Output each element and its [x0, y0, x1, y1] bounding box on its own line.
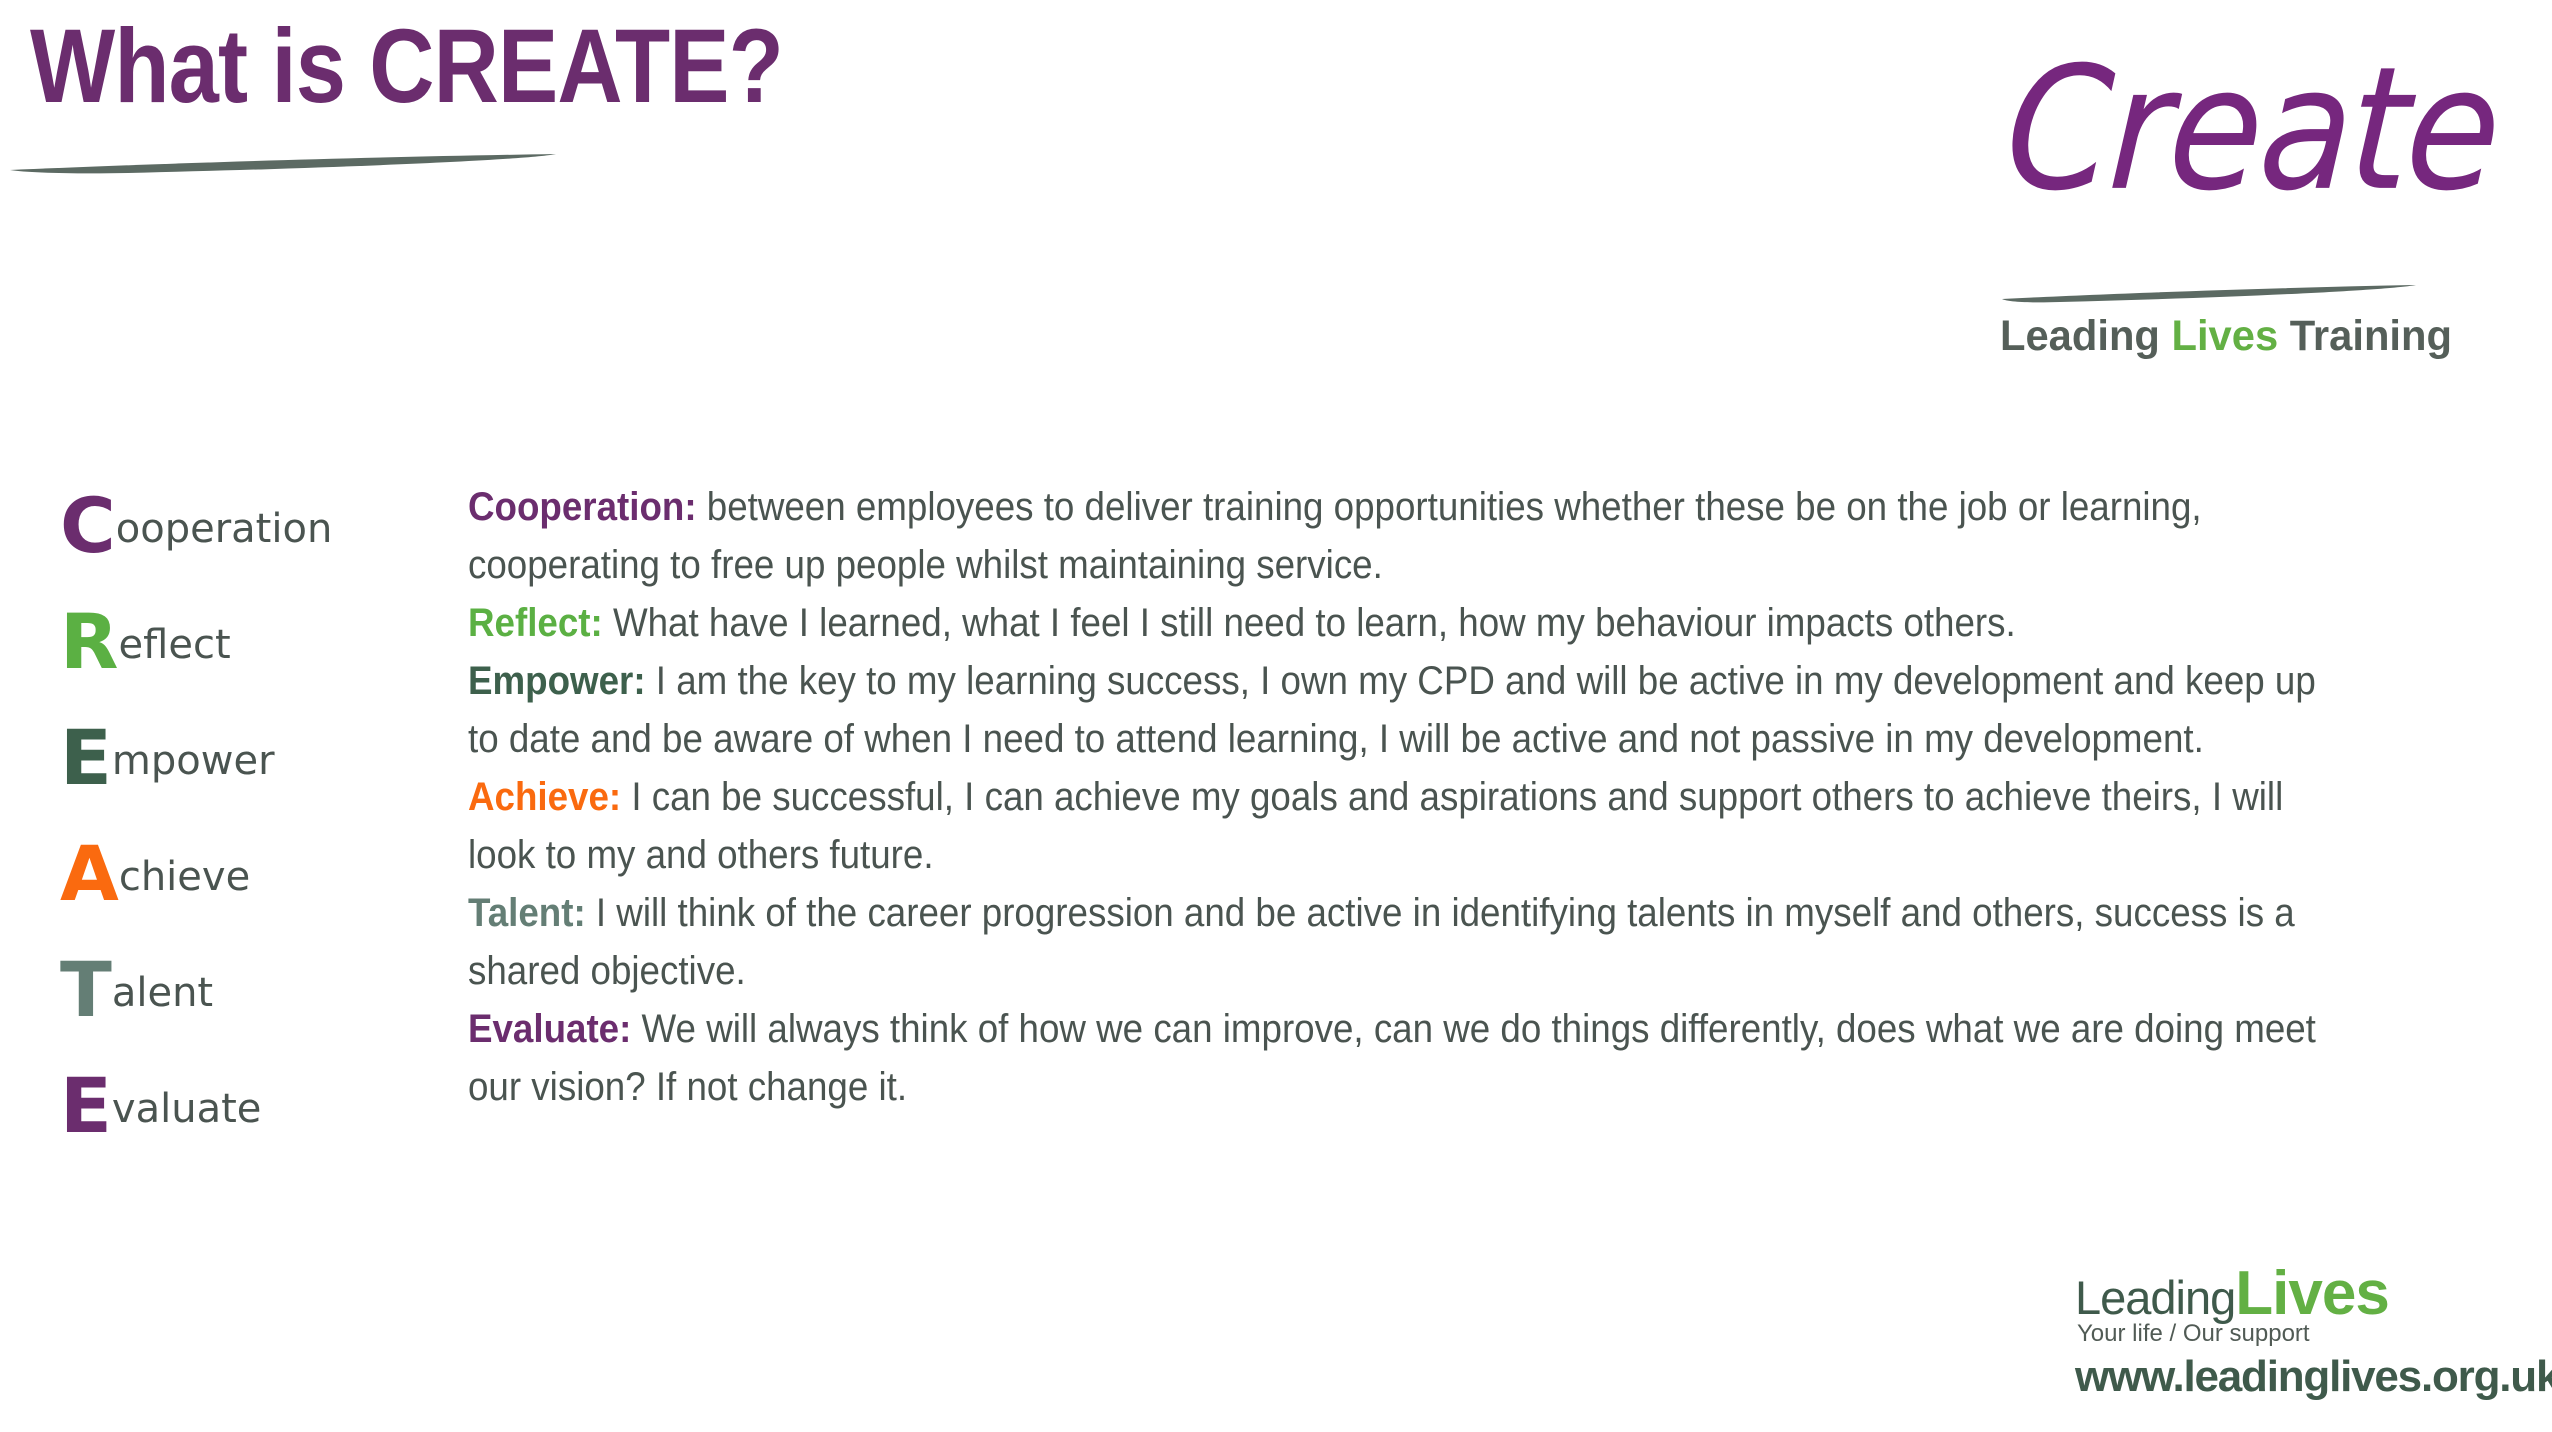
definition-reflect: Reflect: What have I learned, what I fee…: [468, 594, 2319, 652]
definition-lead-reflect: Reflect:: [468, 601, 603, 645]
acronym-item-empower: Empower: [60, 700, 420, 816]
acronym-initial-a: A: [60, 829, 119, 918]
acronym-initial-t: T: [60, 945, 112, 1034]
create-logo-wordmark: Create: [2002, 30, 2503, 228]
footer-logo-wordmark: LeadingLives: [2075, 1258, 2389, 1329]
definition-evaluate: Evaluate: We will always think of how we…: [468, 1000, 2319, 1116]
definition-empower: Empower: I am the key to my learning suc…: [468, 652, 2319, 768]
definition-text-evaluate: We will always think of how we can impro…: [468, 1007, 2316, 1109]
acronym-rest-evaluate: valuate: [112, 1086, 261, 1132]
acronym-initial-r: R: [60, 597, 119, 686]
acronym-initial-e-empower: E: [60, 713, 112, 802]
leading-lives-footer-logo: LeadingLives Your life / Our support www…: [2055, 1258, 2495, 1408]
footer-logo-leading: Leading: [2075, 1271, 2235, 1324]
definition-lead-empower: Empower:: [468, 659, 646, 703]
acronym-initial-e-evaluate: E: [60, 1061, 112, 1150]
acronym-rest-talent: alent: [112, 970, 213, 1016]
create-logo: Create Leading Lives Training: [1990, 20, 2490, 360]
definition-cooperation: Cooperation: between employees to delive…: [468, 478, 2319, 594]
acronym-rest-cooperation: ooperation: [116, 506, 333, 552]
definition-lead-achieve: Achieve:: [468, 775, 621, 819]
title-underline-brushstroke: [8, 150, 568, 176]
acronym-item-evaluate: Evaluate: [60, 1048, 420, 1164]
definition-achieve: Achieve: I can be successful, I can achi…: [468, 768, 2319, 884]
create-logo-tagline: Leading Lives Training: [2000, 312, 2452, 361]
definition-lead-talent: Talent:: [468, 891, 586, 935]
footer-logo-strapline: Your life / Our support: [2077, 1320, 2310, 1348]
acronym-item-reflect: Reflect: [60, 584, 420, 700]
definition-lead-cooperation: Cooperation:: [468, 485, 697, 529]
acronym-item-achieve: Achieve: [60, 816, 420, 932]
footer-logo-url: www.leadinglives.org.uk: [2075, 1352, 2552, 1402]
acronym-rest-empower: mpower: [112, 738, 275, 784]
create-logo-tagline-lives: Lives: [2171, 312, 2278, 360]
definition-text-achieve: I can be successful, I can achieve my go…: [468, 775, 2283, 877]
create-definitions-body: Cooperation: between employees to delive…: [468, 478, 2319, 1116]
definition-text-reflect: What have I learned, what I feel I still…: [603, 601, 2016, 645]
page-title: What is CREATE?: [30, 14, 783, 119]
create-acronym-list: Cooperation Reflect Empower Achieve Tale…: [60, 468, 420, 1164]
acronym-item-talent: Talent: [60, 932, 420, 1048]
definition-talent: Talent: I will think of the career progr…: [468, 884, 2319, 1000]
acronym-item-cooperation: Cooperation: [60, 468, 420, 584]
acronym-rest-achieve: chieve: [119, 854, 250, 900]
definition-text-talent: I will think of the career progression a…: [468, 891, 2295, 993]
definition-lead-evaluate: Evaluate:: [468, 1007, 631, 1051]
acronym-rest-reflect: eflect: [119, 622, 231, 668]
footer-logo-lives: Lives: [2235, 1259, 2389, 1328]
definition-text-empower: I am the key to my learning success, I o…: [468, 659, 2316, 761]
acronym-initial-c: C: [60, 481, 116, 570]
create-logo-tagline-leading: Leading: [2000, 312, 2171, 360]
create-logo-tagline-training: Training: [2278, 312, 2452, 360]
create-logo-brushstroke: [2000, 282, 2420, 304]
definition-text-cooperation: between employees to deliver training op…: [468, 485, 2202, 587]
